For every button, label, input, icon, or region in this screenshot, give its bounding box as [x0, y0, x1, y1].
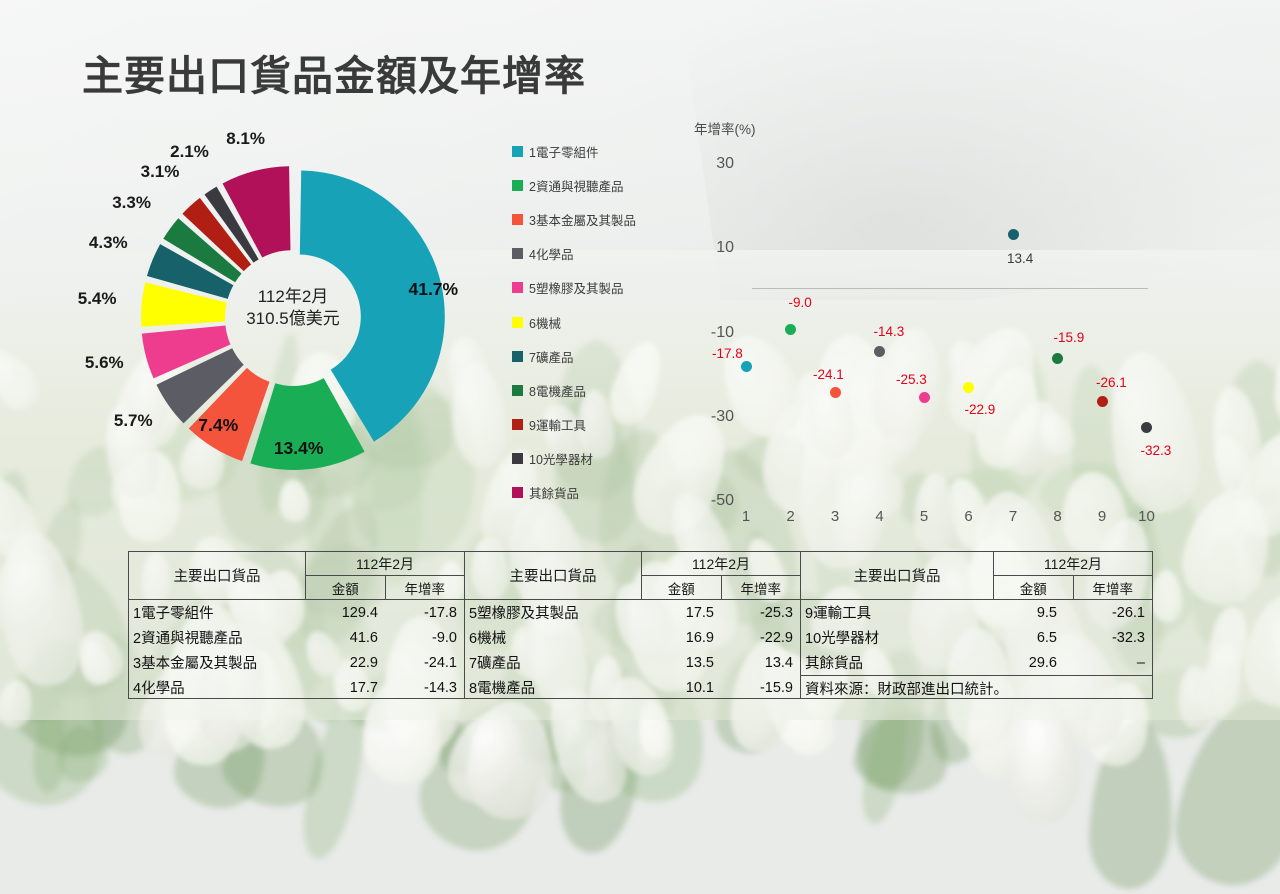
zero-line — [752, 288, 1148, 289]
table-cell-growth: -15.9 — [721, 680, 800, 696]
table-cell-amount: 129.4 — [306, 605, 385, 621]
scatter-point-label: 13.4 — [1007, 251, 1033, 266]
table-header-amount: 金額 — [306, 576, 386, 599]
table-row: 6機械16.9-22.9 — [465, 625, 800, 650]
table-row: 4化學品17.7-14.3 — [129, 675, 464, 700]
donut-center-label: 112年2月 310.5億美元 — [228, 286, 358, 331]
table-header-growth: 年增率 — [386, 576, 465, 599]
donut-slice-label: 7.4% — [198, 415, 238, 436]
table-cell-name: 1電子零組件 — [129, 602, 306, 623]
table-cell-growth: -25.3 — [721, 605, 800, 621]
table-header-amount: 金額 — [642, 576, 722, 599]
table-header-growth: 年增率 — [1074, 576, 1153, 599]
legend-swatch-icon — [512, 248, 523, 259]
legend-swatch-icon — [512, 180, 523, 191]
legend-swatch-icon — [512, 146, 523, 157]
table-header-name: 主要出口貨品 — [465, 552, 642, 599]
legend-swatch-icon — [512, 453, 523, 464]
table-header-period: 112年2月 — [642, 552, 800, 576]
y-tick-label: 10 — [688, 239, 734, 257]
legend-item[interactable]: 8電機產品 — [512, 373, 682, 407]
table-row: 其餘貨品29.6– — [801, 650, 1152, 675]
table-row: 2資通與視聽產品41.6-9.0 — [129, 625, 464, 650]
scatter-point-label: -25.3 — [896, 372, 927, 387]
scatter-point-label: -32.3 — [1141, 443, 1172, 458]
table-cell-amount: 17.5 — [642, 605, 721, 621]
scatter-point — [1008, 229, 1019, 240]
donut-center-line2: 310.5億美元 — [228, 308, 358, 330]
table-cell-amount: 13.5 — [642, 655, 721, 671]
table-row: 7礦產品13.513.4 — [465, 650, 800, 675]
donut-slice-label: 5.4% — [78, 289, 117, 309]
table-row: 9運輸工具9.5-26.1 — [801, 600, 1152, 625]
scatter-point-label: -9.0 — [789, 295, 812, 310]
donut-slice-label: 2.1% — [170, 142, 209, 162]
table-header-amount: 金額 — [994, 576, 1074, 599]
x-tick-label: 8 — [1046, 508, 1070, 525]
table-cell-name: 6機械 — [465, 627, 642, 648]
table-cell-growth: 13.4 — [721, 655, 800, 671]
donut-slice-label: 4.3% — [89, 233, 128, 253]
table-row: 5塑橡膠及其製品17.5-25.3 — [465, 600, 800, 625]
legend-item[interactable]: 9運輸工具 — [512, 408, 682, 442]
legend-item-label: 2資通與視聽產品 — [529, 176, 623, 195]
scatter-axis-title: 年增率(%) — [694, 118, 756, 138]
scatter-point-label: -14.3 — [874, 324, 905, 339]
table-cell-amount: 29.6 — [976, 655, 1064, 671]
legend-swatch-icon — [512, 282, 523, 293]
data-table: 主要出口貨品112年2月金額年增率1電子零組件129.4-17.82資通與視聽產… — [128, 551, 464, 699]
legend-item-label: 4化學品 — [529, 244, 573, 263]
scatter-point — [919, 392, 930, 403]
donut-slice-label: 8.1% — [226, 129, 265, 149]
table-cell-amount: 41.6 — [306, 630, 385, 646]
table-cell-name: 5塑橡膠及其製品 — [465, 602, 642, 623]
scatter-point-label: -24.1 — [813, 367, 844, 382]
legend-swatch-icon — [512, 317, 523, 328]
legend-item-label: 9運輸工具 — [529, 415, 586, 434]
donut-slice-label: 13.4% — [274, 438, 324, 459]
scatter-point — [785, 324, 796, 335]
legend-item-label: 5塑橡膠及其製品 — [529, 278, 623, 297]
table-cell-growth: -24.1 — [385, 655, 464, 671]
legend-item[interactable]: 6機械 — [512, 305, 682, 339]
table-cell-growth: -22.9 — [721, 630, 800, 646]
scatter-point — [963, 382, 974, 393]
table-cell-name: 其餘貨品 — [801, 652, 976, 673]
table-source-row: 資料來源：財政部進出口統計。 — [801, 675, 1152, 701]
y-tick-label: -10 — [688, 324, 734, 342]
donut-slice-label: 3.1% — [141, 162, 180, 182]
data-tables: 主要出口貨品112年2月金額年增率1電子零組件129.4-17.82資通與視聽產… — [128, 551, 1153, 699]
legend-swatch-icon — [512, 351, 523, 362]
table-row: 10光學器材6.5-32.3 — [801, 625, 1152, 650]
x-tick-label: 5 — [912, 508, 936, 525]
scatter-point-label: -22.9 — [965, 402, 996, 417]
x-tick-label: 9 — [1090, 508, 1114, 525]
legend-item-label: 其餘貨品 — [529, 483, 579, 502]
table-row: 3基本金屬及其製品22.9-24.1 — [129, 650, 464, 675]
table-row: 1電子零組件129.4-17.8 — [129, 600, 464, 625]
scatter-point-label: -17.8 — [712, 346, 743, 361]
x-tick-label: 7 — [1001, 508, 1025, 525]
scatter-point — [874, 346, 885, 357]
chart-legend: 1電子零組件2資通與視聽產品3基本金屬及其製品4化學品5塑橡膠及其製品6機械7礦… — [512, 134, 682, 510]
legend-swatch-icon — [512, 419, 523, 430]
donut-slice-label: 5.7% — [114, 411, 153, 431]
table-cell-amount: 22.9 — [306, 655, 385, 671]
table-cell-amount: 17.7 — [306, 680, 385, 696]
table-cell-amount: 6.5 — [976, 630, 1064, 646]
x-tick-label: 4 — [868, 508, 892, 525]
table-header-growth: 年增率 — [722, 576, 801, 599]
legend-item-label: 1電子零組件 — [529, 142, 598, 161]
legend-item-label: 10光學器材 — [529, 449, 593, 468]
scatter-point — [1097, 396, 1108, 407]
source-note: 資料來源：財政部進出口統計。 — [801, 678, 1008, 699]
legend-item[interactable]: 10光學器材 — [512, 442, 682, 476]
table-cell-amount: 10.1 — [642, 680, 721, 696]
scatter-point — [1141, 422, 1152, 433]
table-header-period: 112年2月 — [306, 552, 464, 576]
x-tick-label: 1 — [734, 508, 758, 525]
table-cell-name: 4化學品 — [129, 677, 306, 698]
table-cell-name: 8電機產品 — [465, 677, 642, 698]
legend-item[interactable]: 3基本金屬及其製品 — [512, 202, 682, 236]
table-header-name: 主要出口貨品 — [801, 552, 994, 599]
donut-slice-label: 41.7% — [408, 279, 458, 300]
table-cell-growth: -17.8 — [385, 605, 464, 621]
table-cell-name: 10光學器材 — [801, 627, 976, 648]
table-header-period: 112年2月 — [994, 552, 1152, 576]
legend-item[interactable]: 2資通與視聽產品 — [512, 168, 682, 202]
x-tick-label: 6 — [957, 508, 981, 525]
table-cell-amount: 9.5 — [976, 605, 1064, 621]
table-header-name: 主要出口貨品 — [129, 552, 306, 599]
legend-swatch-icon — [512, 385, 523, 396]
table-cell-name: 2資通與視聽產品 — [129, 627, 306, 648]
table-cell-name: 7礦產品 — [465, 652, 642, 673]
donut-chart: 112年2月 310.5億美元 41.7%13.4%7.4%5.7%5.6%5.… — [78, 118, 498, 518]
scatter-point-label: -26.1 — [1096, 375, 1127, 390]
y-tick-label: 30 — [688, 155, 734, 173]
legend-item-label: 3基本金屬及其製品 — [529, 210, 636, 229]
donut-center-line1: 112年2月 — [228, 286, 358, 308]
x-tick-label: 10 — [1135, 508, 1159, 525]
scatter-point — [1052, 353, 1063, 364]
legend-item[interactable]: 5塑橡膠及其製品 — [512, 271, 682, 305]
data-table: 主要出口貨品112年2月金額年增率5塑橡膠及其製品17.5-25.36機械16.… — [464, 551, 800, 699]
legend-item-label: 8電機產品 — [529, 381, 586, 400]
legend-swatch-icon — [512, 214, 523, 225]
x-tick-label: 2 — [779, 508, 803, 525]
table-cell-growth: -14.3 — [385, 680, 464, 696]
data-table: 主要出口貨品112年2月金額年增率9運輸工具9.5-26.110光學器材6.5-… — [800, 551, 1153, 699]
table-cell-growth: -9.0 — [385, 630, 464, 646]
legend-item[interactable]: 其餘貨品 — [512, 476, 682, 510]
x-tick-label: 3 — [823, 508, 847, 525]
table-cell-name: 3基本金屬及其製品 — [129, 652, 306, 673]
table-cell-growth: -32.3 — [1064, 630, 1152, 646]
legend-item[interactable]: 4化學品 — [512, 237, 682, 271]
table-cell-amount: 16.9 — [642, 630, 721, 646]
scatter-point — [741, 361, 752, 372]
donut-slice-label: 5.6% — [85, 353, 124, 373]
legend-item[interactable]: 1電子零組件 — [512, 134, 682, 168]
y-tick-label: -50 — [688, 492, 734, 510]
page-title: 主要出口貨品金額及年增率 — [82, 42, 586, 102]
scatter-point-label: -15.9 — [1054, 330, 1085, 345]
legend-item-label: 6機械 — [529, 313, 561, 332]
table-cell-growth: -26.1 — [1064, 605, 1152, 621]
legend-item[interactable]: 7礦產品 — [512, 339, 682, 373]
donut-slice-label: 3.3% — [112, 193, 151, 213]
table-cell-growth: – — [1064, 655, 1152, 671]
table-cell-name: 9運輸工具 — [801, 602, 976, 623]
y-tick-label: -30 — [688, 408, 734, 426]
legend-item-label: 7礦產品 — [529, 347, 573, 366]
scatter-point — [830, 387, 841, 398]
scatter-chart: 年增率(%) 3010-10-30-50 12345678910 -17.8-9… — [686, 110, 1186, 530]
table-row: 8電機產品10.1-15.9 — [465, 675, 800, 700]
legend-swatch-icon — [512, 487, 523, 498]
